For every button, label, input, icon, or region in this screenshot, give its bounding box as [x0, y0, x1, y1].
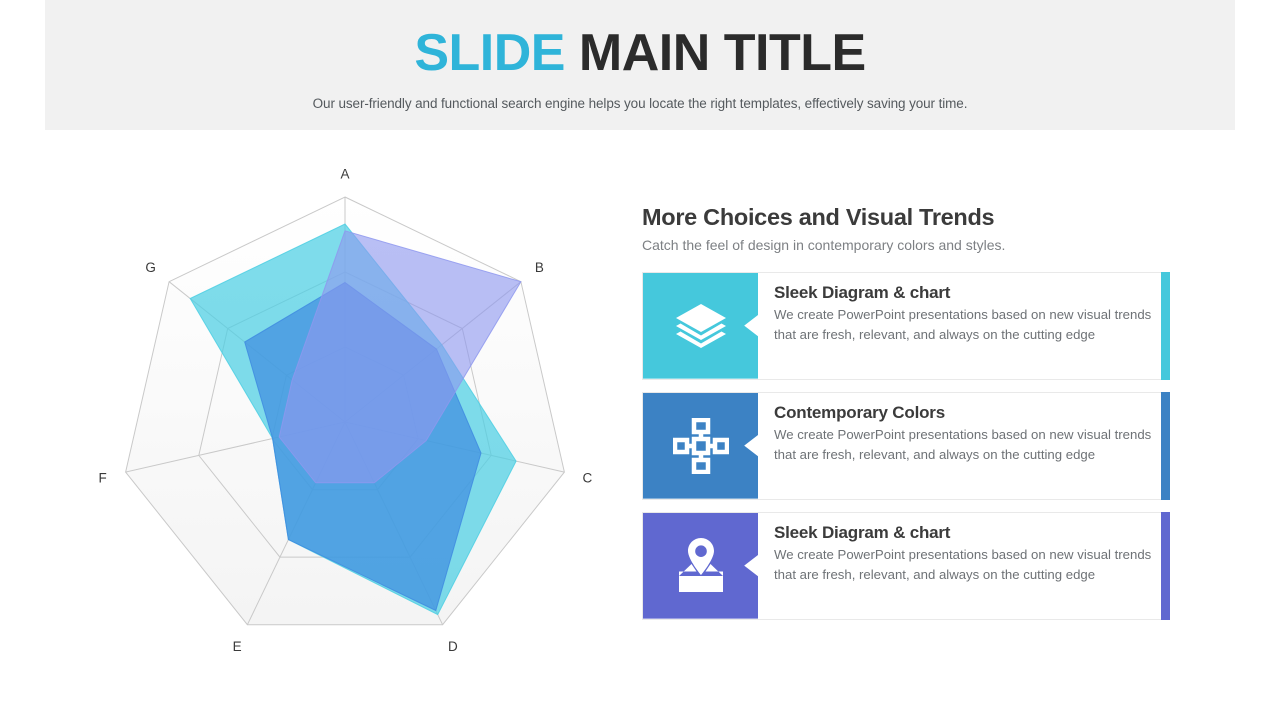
page-title-rest: MAIN TITLE [565, 24, 866, 82]
features-panel: More Choices and Visual Trends Catch the… [642, 205, 1170, 632]
feature-card-text: We create PowerPoint presentations based… [774, 425, 1153, 465]
radar-axis-label-G: G [145, 260, 156, 275]
radar-axis-label-D: D [448, 639, 458, 654]
radar-axis-label-A: A [340, 166, 349, 181]
feature-card-accent-bar [1161, 272, 1170, 380]
layers-icon [673, 298, 729, 354]
feature-card-text: We create PowerPoint presentations based… [774, 545, 1153, 585]
radar-axis-label-F: F [98, 470, 106, 485]
feature-card-heading: Sleek Diagram & chart [774, 283, 1153, 303]
sitemap-icon [673, 418, 729, 474]
feature-card-text: We create PowerPoint presentations based… [774, 305, 1153, 345]
feature-card-accent-bar [1161, 392, 1170, 500]
feature-card[interactable]: Sleek Diagram & chartWe create PowerPoin… [642, 272, 1170, 380]
feature-card-heading: Sleek Diagram & chart [774, 523, 1153, 543]
feature-card-body: Sleek Diagram & chartWe create PowerPoin… [758, 513, 1169, 619]
feature-card-heading: Contemporary Colors [774, 403, 1153, 423]
feature-card-icon-tile [643, 273, 758, 379]
page-title-accent: SLIDE [414, 24, 565, 82]
page-title: SLIDE MAIN TITLE [0, 27, 1280, 79]
panel-subtitle: Catch the feel of design in contemporary… [642, 237, 1170, 254]
feature-card-body: Sleek Diagram & chartWe create PowerPoin… [758, 273, 1169, 379]
radar-chart-svg: ABCDEFG [60, 160, 630, 670]
feature-card-icon-tile [643, 393, 758, 499]
feature-card[interactable]: Sleek Diagram & chartWe create PowerPoin… [642, 512, 1170, 620]
feature-card[interactable]: Contemporary ColorsWe create PowerPoint … [642, 392, 1170, 500]
panel-title: More Choices and Visual Trends [642, 205, 1170, 231]
radar-axis-label-C: C [583, 470, 593, 485]
feature-card-icon-tile [643, 513, 758, 619]
feature-card-accent-bar [1161, 512, 1170, 620]
page-subtitle: Our user-friendly and functional search … [0, 96, 1280, 111]
radar-axis-label-E: E [233, 639, 242, 654]
feature-card-body: Contemporary ColorsWe create PowerPoint … [758, 393, 1169, 499]
feature-card-list: Sleek Diagram & chartWe create PowerPoin… [642, 272, 1170, 620]
location-pin-box-icon [671, 537, 731, 595]
radar-axis-label-B: B [535, 260, 544, 275]
radar-chart: ABCDEFG [60, 160, 630, 670]
